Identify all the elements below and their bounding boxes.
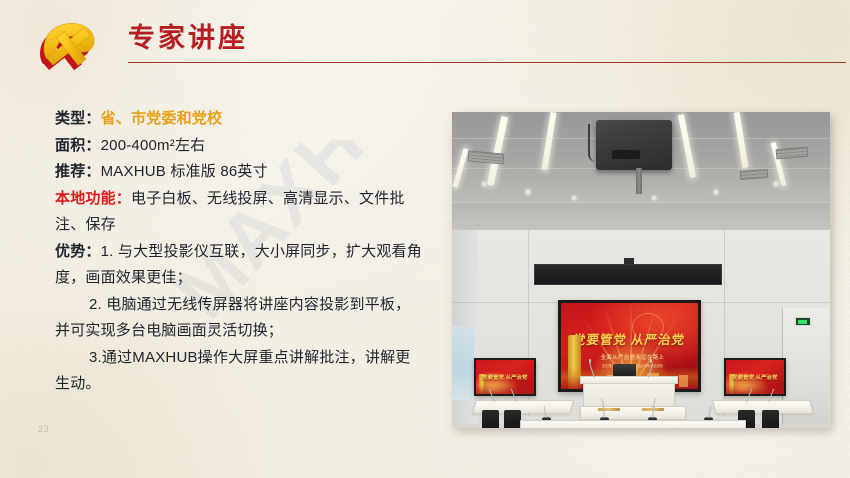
advantage-item-1: 1. 与大型投影仪互联，大小屏同步，扩大观看角度，画面效果更佳； bbox=[55, 243, 422, 287]
left-screen-headline: 党要管党 从严治党 bbox=[482, 373, 528, 381]
exit-sign-light bbox=[798, 320, 807, 324]
screen-skyline bbox=[476, 385, 534, 394]
spec-label-local-features: 本地功能： bbox=[55, 190, 131, 207]
right-led-screen-content: 党要管党 从严治党 bbox=[726, 360, 784, 394]
slide-canvas: MAXHUB bbox=[0, 0, 850, 478]
left-led-screen: 党要管党 从严治党 bbox=[474, 358, 536, 396]
right-led-screen: 党要管党 从严治党 bbox=[724, 358, 786, 396]
podium-monitor bbox=[613, 364, 636, 376]
projector-lens bbox=[612, 150, 640, 159]
chair bbox=[482, 410, 499, 428]
spec-label-advantages: 优势： bbox=[55, 243, 101, 260]
exit-sign bbox=[795, 317, 811, 326]
side-window bbox=[452, 326, 474, 400]
ceiling-air-vent bbox=[740, 169, 769, 180]
spec-value-recommendation: MAXHUB 标准版 86英寸 bbox=[101, 163, 268, 180]
ceiling-downlight bbox=[714, 190, 718, 194]
spec-row-advantages: 优势：1. 与大型投影仪互联，大小屏同步，扩大观看角度，画面效果更佳； bbox=[55, 239, 423, 292]
right-screen-headline: 党要管党 从严治党 bbox=[732, 373, 778, 381]
screen-skyline bbox=[726, 385, 784, 394]
page-number: 23 bbox=[38, 424, 49, 434]
photo-inner: 党要管党 从严治党 全面从严治党永远在路上 坚定理想信念 严守党的政治纪律和政治… bbox=[452, 112, 830, 428]
ceiling-downlight bbox=[652, 196, 656, 200]
ceiling-soundbar bbox=[534, 264, 722, 285]
spec-label-area: 面积： bbox=[55, 137, 101, 154]
ceiling-downlight bbox=[526, 190, 530, 194]
advantage-item-3: 3.通过MAXHUB操作大屏重点讲解批注，讲解更生动。 bbox=[55, 349, 411, 393]
front-bench-desk bbox=[580, 406, 686, 420]
advantage-row-2: 2. 电脑通过无线传屏器将讲座内容投影到平板，并可实现多台电脑画面灵活切换； bbox=[55, 292, 423, 345]
spec-row-area: 面积：200-400m²左右 bbox=[55, 133, 423, 160]
ceiling-downlight bbox=[482, 182, 486, 186]
chair bbox=[504, 410, 521, 428]
slide-header: 专家讲座 bbox=[0, 0, 850, 80]
ceiling-downlight bbox=[774, 182, 778, 186]
spec-row-type: 类型：省、市党委和党校 bbox=[55, 106, 423, 133]
spec-value-area: 200-400m²左右 bbox=[101, 137, 206, 154]
spec-label-type: 类型： bbox=[55, 110, 101, 127]
spec-row-recommendation: 推荐：MAXHUB 标准版 86英寸 bbox=[55, 159, 423, 186]
projector-mount-rod bbox=[636, 168, 642, 194]
ceiling-projector bbox=[596, 120, 672, 170]
spec-label-recommendation: 推荐： bbox=[55, 163, 101, 180]
desk-nameplate bbox=[598, 408, 620, 411]
audience-desk-row-1 bbox=[520, 420, 746, 428]
ceiling-downlight bbox=[572, 196, 576, 200]
chair bbox=[762, 410, 779, 428]
advantage-row-3: 3.通过MAXHUB操作大屏重点讲解批注，讲解更生动。 bbox=[55, 345, 423, 398]
left-led-screen-content: 党要管党 从严治党 bbox=[476, 360, 534, 394]
main-screen-headline: 党要管党 从严治党 bbox=[572, 329, 691, 348]
page-title: 专家讲座 bbox=[128, 20, 248, 56]
cpc-party-emblem-icon bbox=[26, 11, 118, 73]
screen-building bbox=[679, 375, 688, 387]
spec-row-local-features: 本地功能：电子白板、无线投屏、高清显示、文件批注、保存 bbox=[55, 186, 423, 239]
advantage-item-2: 2. 电脑通过无线传屏器将讲座内容投影到平板，并可实现多台电脑画面灵活切换； bbox=[55, 296, 410, 340]
spec-copy-block: 类型：省、市党委和党校 面积：200-400m²左右 推荐：MAXHUB 标准版… bbox=[55, 106, 423, 398]
title-divider bbox=[128, 62, 846, 63]
main-screen-subline: 全面从严治党永远在路上 bbox=[581, 353, 684, 361]
conference-lecture-hall-photo: 党要管党 从严治党 全面从严治党永远在路上 坚定理想信念 严守党的政治纪律和政治… bbox=[452, 112, 830, 428]
spec-value-type: 省、市党委和党校 bbox=[101, 110, 223, 127]
